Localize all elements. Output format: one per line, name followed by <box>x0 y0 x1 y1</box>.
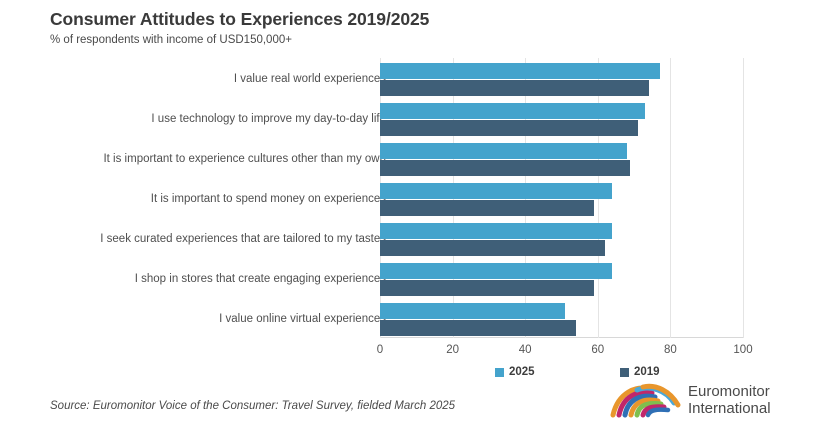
rainbow-arc-icon <box>610 381 682 419</box>
bar-2019[interactable] <box>380 120 638 136</box>
category-label: It is important to spend money on experi… <box>151 191 386 207</box>
bar-group: I use technology to improve my day-to-da… <box>380 103 743 143</box>
category-label: I value real world experiences <box>234 71 386 87</box>
category-label: I seek curated experiences that are tail… <box>100 231 386 247</box>
bar-2019[interactable] <box>380 240 605 256</box>
bar-group: I shop in stores that create engaging ex… <box>380 263 743 303</box>
legend-swatch-2025 <box>495 368 504 377</box>
page-subtitle: % of respondents with income of USD150,0… <box>50 34 292 46</box>
source-note: Source: Euromonitor Voice of the Consume… <box>50 400 455 412</box>
category-label: I value online virtual experiences <box>219 311 386 327</box>
bar-2025[interactable] <box>380 63 660 79</box>
logo-line-2: International <box>688 400 771 417</box>
x-tick-80: 80 <box>664 344 677 356</box>
bar-2019[interactable] <box>380 280 594 296</box>
x-tick-60: 60 <box>591 344 604 356</box>
x-tick-0: 0 <box>377 344 383 356</box>
bar-2025[interactable] <box>380 223 612 239</box>
bar-2025[interactable] <box>380 103 645 119</box>
legend-item-2019[interactable]: 2019 <box>620 366 660 378</box>
logo-line-1: Euromonitor <box>688 383 771 400</box>
chart-page: Consumer Attitudes to Experiences 2019/2… <box>0 0 832 430</box>
legend-label-2025: 2025 <box>509 366 535 378</box>
bar-group: It is important to spend money on experi… <box>380 183 743 223</box>
bar-2025[interactable] <box>380 303 565 319</box>
plot-area: I value real world experiencesI use tech… <box>380 58 743 338</box>
bar-group: I value online virtual experiences <box>380 303 743 343</box>
bar-group: It is important to experience cultures o… <box>380 143 743 183</box>
gridline-100 <box>743 58 744 338</box>
x-tick-100: 100 <box>733 344 752 356</box>
bar-group: I value real world experiences <box>380 63 743 103</box>
logo-text-block: Euromonitor International <box>688 383 771 417</box>
bar-2019[interactable] <box>380 200 594 216</box>
category-label: I shop in stores that create engaging ex… <box>135 271 386 287</box>
euromonitor-logo: Euromonitor International <box>610 381 771 419</box>
category-label: I use technology to improve my day-to-da… <box>151 111 386 127</box>
x-tick-40: 40 <box>519 344 532 356</box>
legend-swatch-2019 <box>620 368 629 377</box>
x-tick-20: 20 <box>446 344 459 356</box>
bar-group: I seek curated experiences that are tail… <box>380 223 743 263</box>
category-label: It is important to experience cultures o… <box>103 151 386 167</box>
legend-item-2025[interactable]: 2025 <box>495 366 535 378</box>
bar-2019[interactable] <box>380 80 649 96</box>
bar-2025[interactable] <box>380 183 612 199</box>
bar-2025[interactable] <box>380 263 612 279</box>
legend-label-2019: 2019 <box>634 366 660 378</box>
bar-2025[interactable] <box>380 143 627 159</box>
page-title: Consumer Attitudes to Experiences 2019/2… <box>50 9 429 30</box>
bar-2019[interactable] <box>380 160 630 176</box>
bar-2019[interactable] <box>380 320 576 336</box>
